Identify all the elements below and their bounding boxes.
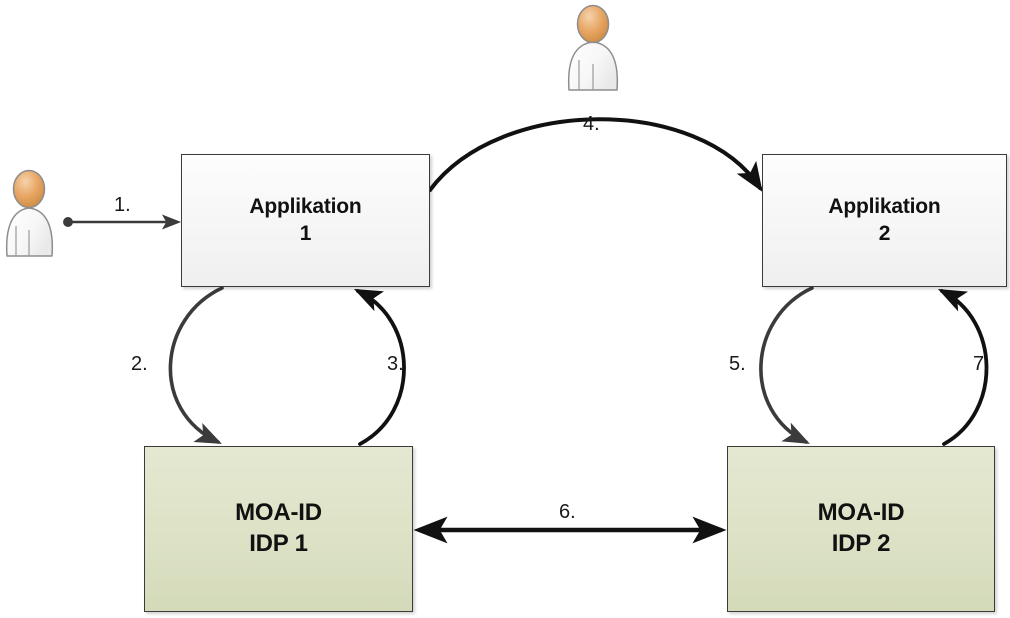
arrow-label-7: 7. (973, 353, 990, 376)
arrow-label-4: 4. (583, 113, 600, 136)
arrow-2 (170, 288, 222, 442)
node-applikation-2-line1: Applikation (828, 194, 940, 221)
arrow-5 (761, 288, 812, 442)
node-moa-id-idp-1-line2: IDP 1 (249, 529, 308, 560)
node-moa-id-idp-1-line1: MOA-ID (235, 498, 322, 529)
node-applikation-1-line2: 1 (300, 221, 311, 248)
node-moa-id-idp-1[interactable]: MOA-ID IDP 1 (144, 446, 413, 612)
node-applikation-2-line2: 2 (879, 221, 890, 248)
arrow-label-5: 5. (729, 353, 746, 376)
user-actor-top-icon (562, 4, 624, 92)
node-moa-id-idp-2-line1: MOA-ID (818, 498, 905, 529)
node-applikation-2[interactable]: Applikation 2 (762, 154, 1007, 287)
node-moa-id-idp-2[interactable]: MOA-ID IDP 2 (727, 446, 995, 612)
arrow-label-6: 6. (559, 501, 576, 524)
arrow-label-3: 3. (387, 353, 404, 376)
arrow-label-1: 1. (114, 194, 131, 217)
node-moa-id-idp-2-line2: IDP 2 (832, 529, 891, 560)
node-applikation-1[interactable]: Applikation 1 (181, 154, 430, 287)
arrow-label-2: 2. (131, 353, 148, 376)
diagram-canvas: 1. 2. 3. 4. 5. 6. 7. Applikation 1 Appli… (0, 0, 1010, 618)
node-applikation-1-line1: Applikation (249, 194, 361, 221)
user-actor-left-icon (2, 168, 58, 258)
